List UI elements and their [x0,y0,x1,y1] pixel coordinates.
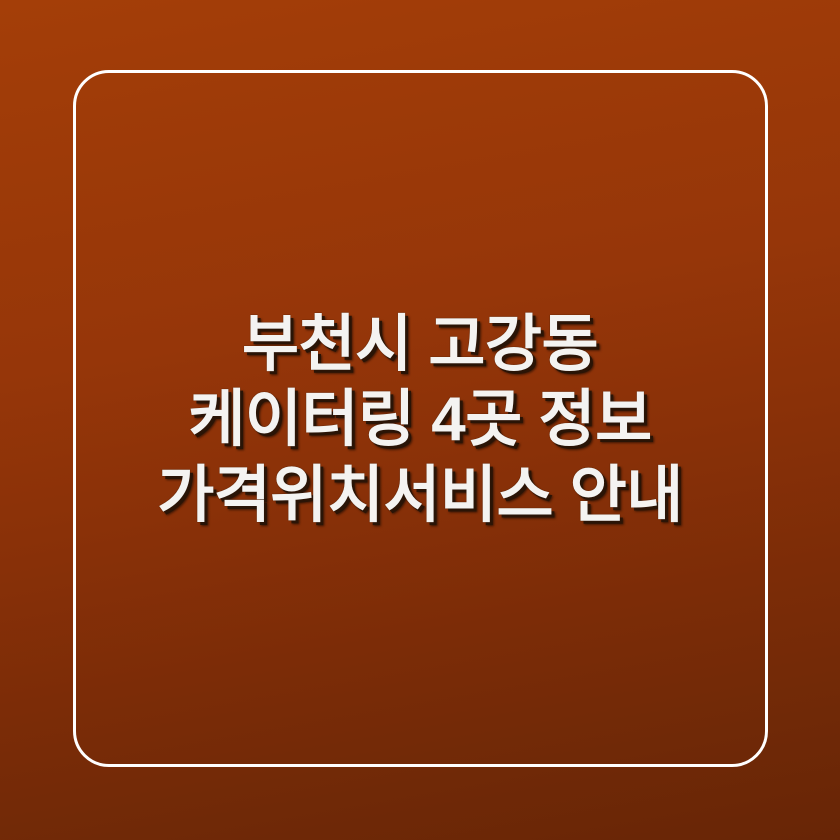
headline-line-3: 가격위치서비스 안내 [157,458,683,533]
headline-line-2: 케이터링 4곳 정보 [188,382,651,457]
promo-card: 부천시 고강동 케이터링 4곳 정보 가격위치서비스 안내 [0,0,840,840]
headline-block: 부천시 고강동 케이터링 4곳 정보 가격위치서비스 안내 [0,0,840,840]
headline-line-1: 부천시 고강동 [242,307,598,382]
